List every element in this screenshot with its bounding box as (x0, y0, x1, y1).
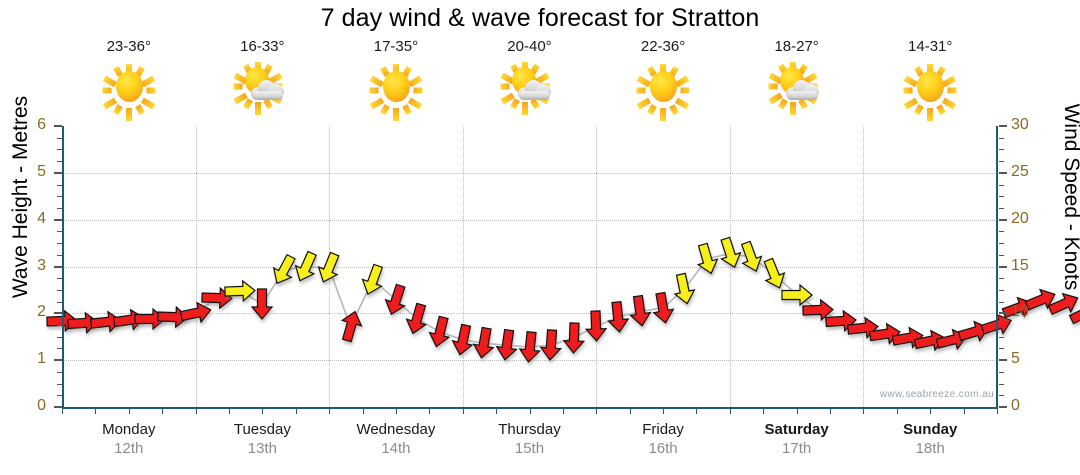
right-axis-tick-label: 15 (1011, 257, 1041, 275)
right-axis-minor-tick (999, 372, 1004, 373)
left-axis-minor-tick (57, 384, 62, 385)
left-axis-tick (54, 359, 62, 361)
x-axis-tick (630, 407, 631, 414)
partly-cloudy-icon (501, 60, 557, 112)
left-axis-minor-tick (57, 395, 62, 396)
left-axis-minor-tick (57, 185, 62, 186)
left-axis-minor-tick (57, 278, 62, 279)
x-axis-tick (763, 407, 764, 414)
x-axis-tick (196, 407, 197, 414)
day-footer[interactable]: Wednesday14th (329, 420, 463, 468)
left-axis-tick (54, 172, 62, 174)
day-footer[interactable]: Tuesday13th (196, 420, 330, 468)
right-axis-tick (999, 219, 1007, 221)
day-name: Friday (596, 420, 730, 439)
right-axis-tick (999, 172, 1007, 174)
right-axis-tick-label: 10 (1011, 303, 1041, 321)
sunny-icon (368, 60, 424, 112)
x-axis-tick (262, 407, 263, 414)
right-axis-minor-tick (999, 384, 1004, 385)
right-axis-tick-label: 20 (1011, 210, 1041, 228)
left-axis-tick-label: 1 (20, 350, 46, 368)
left-axis-minor-tick (57, 290, 62, 291)
wind-direction-arrow (312, 251, 346, 285)
right-axis-tick (999, 266, 1007, 268)
right-axis-tick-label: 30 (1011, 116, 1041, 134)
right-axis-minor-tick (999, 196, 1004, 197)
day-name: Tuesday (196, 420, 330, 439)
x-axis-tick (997, 407, 998, 414)
right-axis-tick-label: 25 (1011, 163, 1041, 181)
wind-speed-trace (62, 126, 997, 407)
right-axis-minor-tick (999, 395, 1004, 396)
right-axis-title: Wind Speed - Knots (1059, 72, 1080, 322)
sunny-icon (902, 60, 958, 112)
x-axis-tick (129, 407, 130, 414)
temperature-range: 23-36° (62, 38, 196, 56)
day-name: Thursday (463, 420, 597, 439)
right-axis-tick (999, 312, 1007, 314)
left-axis-tick (54, 266, 62, 268)
day-date: 16th (596, 439, 730, 459)
x-axis-tick (429, 407, 430, 414)
left-axis-tick-label: 0 (20, 397, 46, 415)
right-axis-minor-tick (999, 337, 1004, 338)
day-footer[interactable]: Thursday15th (463, 420, 597, 468)
day-name: Saturday (730, 420, 864, 439)
day-date: 18th (863, 439, 997, 459)
left-axis-tick (54, 406, 62, 408)
left-axis-minor-tick (57, 208, 62, 209)
x-axis-tick (930, 407, 931, 414)
x-axis-tick (663, 407, 664, 414)
left-axis-minor-tick (57, 231, 62, 232)
x-axis-tick (797, 407, 798, 414)
day-date: 13th (196, 439, 330, 459)
temperature-range: 16-33° (196, 38, 330, 56)
day-footer[interactable]: Friday16th (596, 420, 730, 468)
right-axis-minor-tick (999, 302, 1004, 303)
wind-wave-forecast-chart: 7 day wind & wave forecast for Stratton … (0, 0, 1080, 475)
right-axis-minor-tick (999, 278, 1004, 279)
x-axis-tick (162, 407, 163, 414)
partly-cloudy-icon (234, 60, 290, 112)
day-footer[interactable]: Saturday17th (730, 420, 864, 468)
temperature-range: 20-40° (463, 38, 597, 56)
left-axis-tick (54, 312, 62, 314)
right-axis-tick-label: 5 (1011, 350, 1041, 368)
day-footer[interactable]: Sunday18th (863, 420, 997, 468)
day-name: Monday (62, 420, 196, 439)
day-date: 17th (730, 439, 864, 459)
right-axis-tick (999, 125, 1007, 127)
right-axis-minor-tick (999, 138, 1004, 139)
x-axis-tick (596, 407, 597, 414)
right-axis-tick-label: 0 (1011, 397, 1041, 415)
right-axis-minor-tick (999, 161, 1004, 162)
x-axis-tick (696, 407, 697, 414)
temperature-range: 14-31° (863, 38, 997, 56)
x-axis-tick (496, 407, 497, 414)
day-header: 20-40° (463, 38, 597, 118)
right-axis-minor-tick (999, 243, 1004, 244)
x-axis-tick (62, 407, 63, 414)
plot-area (62, 126, 997, 407)
left-axis-line (62, 126, 64, 408)
x-axis-tick (296, 407, 297, 414)
x-axis-tick (329, 407, 330, 414)
x-axis-tick (897, 407, 898, 414)
day-header: 18-27° (730, 38, 864, 118)
sunny-icon (635, 60, 691, 112)
right-axis-minor-tick (999, 208, 1004, 209)
left-axis-minor-tick (57, 348, 62, 349)
sunny-icon (101, 60, 157, 112)
day-name: Wednesday (329, 420, 463, 439)
left-axis-minor-tick (57, 138, 62, 139)
x-axis-tick (830, 407, 831, 414)
left-axis-minor-tick (57, 372, 62, 373)
right-axis-minor-tick (999, 348, 1004, 349)
day-header: 17-35° (329, 38, 463, 118)
right-axis-minor-tick (999, 325, 1004, 326)
day-footer[interactable]: Monday12th (62, 420, 196, 468)
left-axis-minor-tick (57, 149, 62, 150)
x-axis-tick (363, 407, 364, 414)
right-axis-minor-tick (999, 231, 1004, 232)
day-date: 15th (463, 439, 597, 459)
left-axis-tick (54, 219, 62, 221)
x-axis-tick (563, 407, 564, 414)
temperature-range: 18-27° (730, 38, 864, 56)
right-axis-tick (999, 359, 1007, 361)
page-title: 7 day wind & wave forecast for Stratton (0, 4, 1080, 33)
temperature-range: 22-36° (596, 38, 730, 56)
day-header: 22-36° (596, 38, 730, 118)
day-header: 14-31° (863, 38, 997, 118)
day-name: Sunday (863, 420, 997, 439)
watermark: www.seabreeze.com.au (880, 389, 994, 400)
day-date: 12th (62, 439, 196, 459)
x-axis-tick (396, 407, 397, 414)
right-axis-line (996, 126, 998, 408)
day-date: 14th (329, 439, 463, 459)
x-axis-tick (863, 407, 864, 414)
left-axis-minor-tick (57, 161, 62, 162)
left-axis-minor-tick (57, 255, 62, 256)
day-header: 16-33° (196, 38, 330, 118)
right-axis-tick (999, 406, 1007, 408)
left-axis-minor-tick (57, 337, 62, 338)
x-axis-tick (530, 407, 531, 414)
partly-cloudy-icon (769, 60, 825, 112)
temperature-range: 17-35° (329, 38, 463, 56)
x-axis-tick (964, 407, 965, 414)
left-axis-minor-tick (57, 196, 62, 197)
x-axis-tick (229, 407, 230, 414)
x-axis-tick (95, 407, 96, 414)
wind-direction-arrow (334, 309, 368, 343)
left-axis-tick (54, 125, 62, 127)
right-axis-minor-tick (999, 149, 1004, 150)
left-axis-minor-tick (57, 243, 62, 244)
x-axis-tick (730, 407, 731, 414)
right-axis-minor-tick (999, 290, 1004, 291)
right-axis-minor-tick (999, 255, 1004, 256)
right-axis-minor-tick (999, 185, 1004, 186)
left-axis-title: Wave Height - Metres (9, 72, 33, 322)
x-axis-tick (463, 407, 464, 414)
wind-direction-arrow (245, 287, 279, 321)
left-axis-minor-tick (57, 302, 62, 303)
wind-direction-arrow (667, 272, 701, 306)
day-header: 23-36° (62, 38, 196, 118)
left-axis-minor-tick (57, 325, 62, 326)
